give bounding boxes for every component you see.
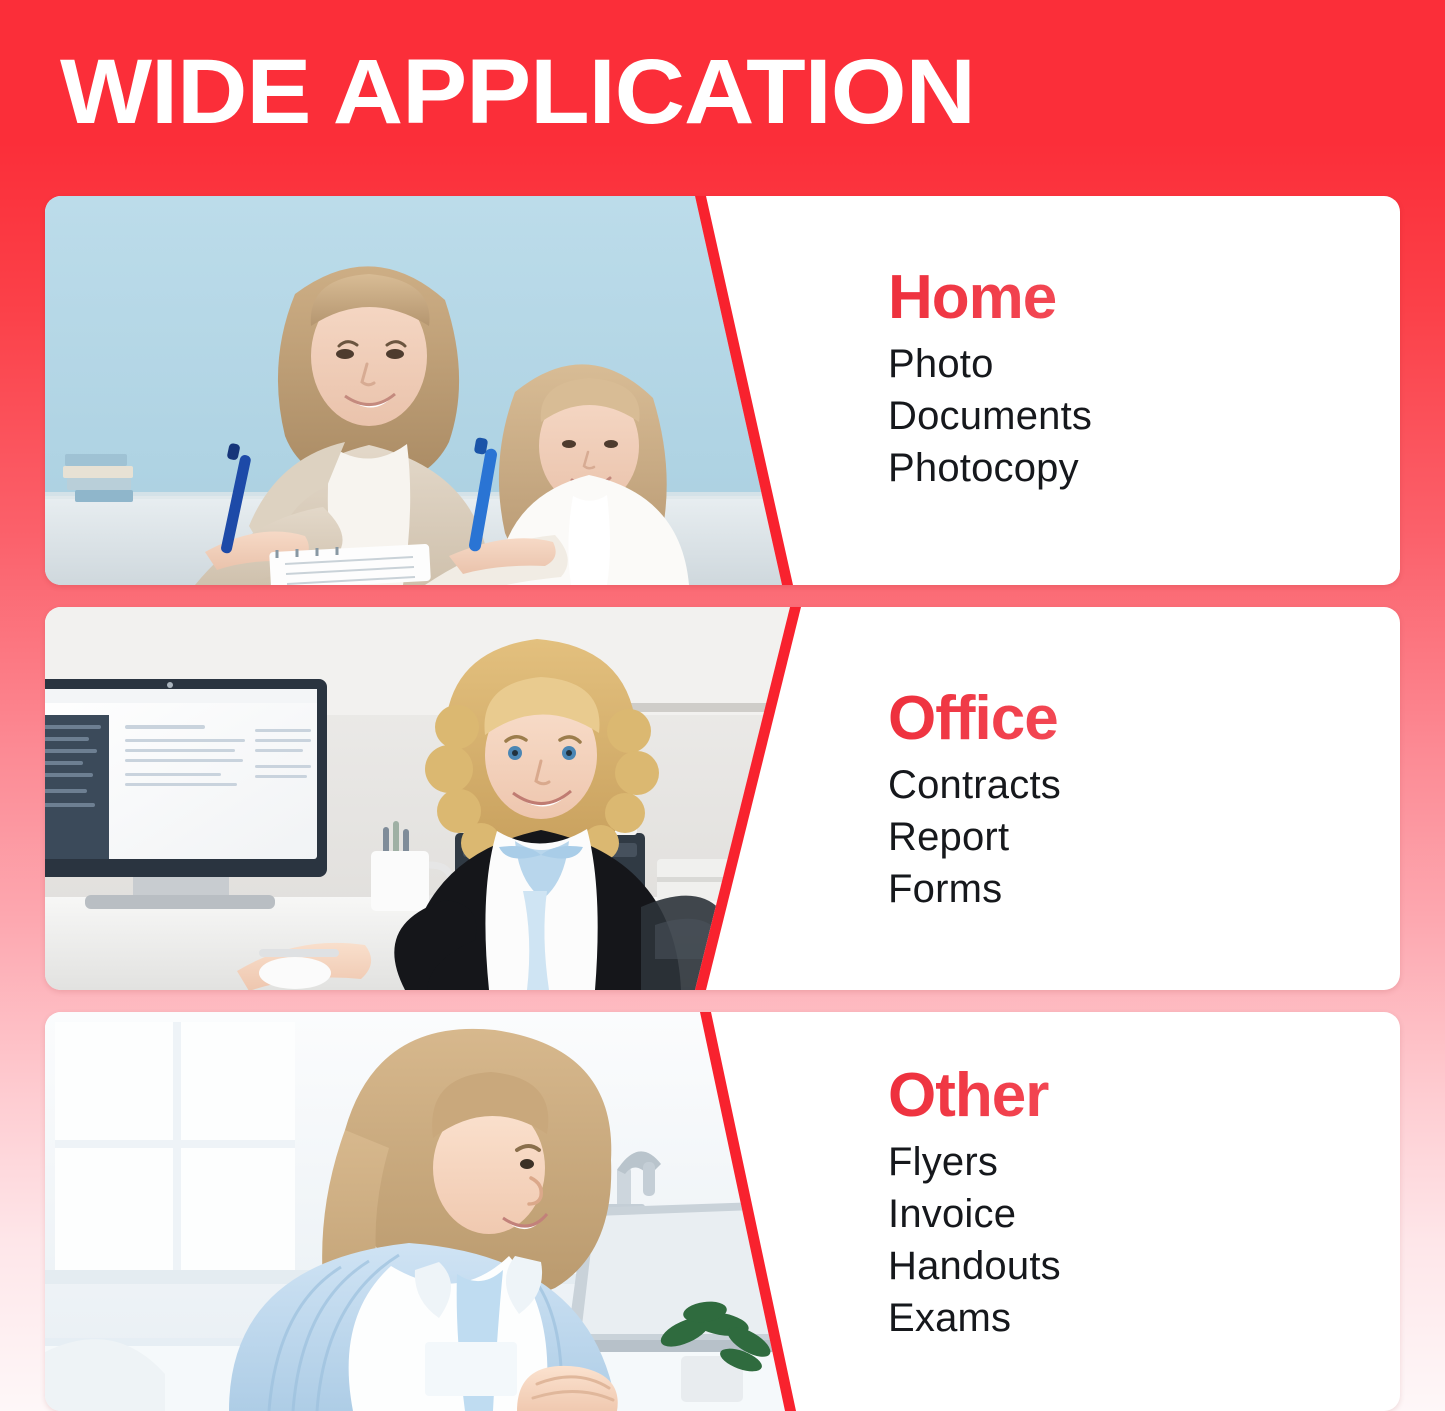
list-item: Documents <box>888 390 1400 442</box>
list-item: Report <box>888 811 1400 863</box>
list-item: Photocopy <box>888 442 1400 494</box>
card-heading-home: Home <box>888 262 1400 334</box>
photo-mother-and-daughter-writing-at-desk <box>45 196 845 585</box>
list-item: Forms <box>888 863 1400 915</box>
application-card-home: Home Photo Documents Photocopy <box>45 196 1400 585</box>
photo-scientist-in-lab-coat-with-laptop <box>45 1012 845 1411</box>
list-item: Invoice <box>888 1188 1400 1240</box>
list-item: Photo <box>888 338 1400 390</box>
card-heading-office: Office <box>888 683 1400 755</box>
card-text-panel-home: Home Photo Documents Photocopy <box>840 196 1400 585</box>
card-item-list-office: Contracts Report Forms <box>888 759 1400 915</box>
list-item: Flyers <box>888 1136 1400 1188</box>
list-item: Exams <box>888 1292 1400 1344</box>
application-card-other: Other Flyers Invoice Handouts Exams <box>45 1012 1400 1411</box>
card-text-panel-office: Office Contracts Report Forms <box>840 607 1400 990</box>
list-item: Contracts <box>888 759 1400 811</box>
card-item-list-home: Photo Documents Photocopy <box>888 338 1400 494</box>
list-item: Handouts <box>888 1240 1400 1292</box>
title-banner: WIDE APPLICATION <box>0 0 1445 180</box>
card-heading-other: Other <box>888 1060 1400 1132</box>
photo-businesswoman-at-office-desk-with-monitor <box>45 607 845 990</box>
application-card-office: Office Contracts Report Forms <box>45 607 1400 990</box>
card-item-list-other: Flyers Invoice Handouts Exams <box>888 1136 1400 1344</box>
card-text-panel-other: Other Flyers Invoice Handouts Exams <box>840 1012 1400 1411</box>
page-title: WIDE APPLICATION <box>60 44 975 140</box>
